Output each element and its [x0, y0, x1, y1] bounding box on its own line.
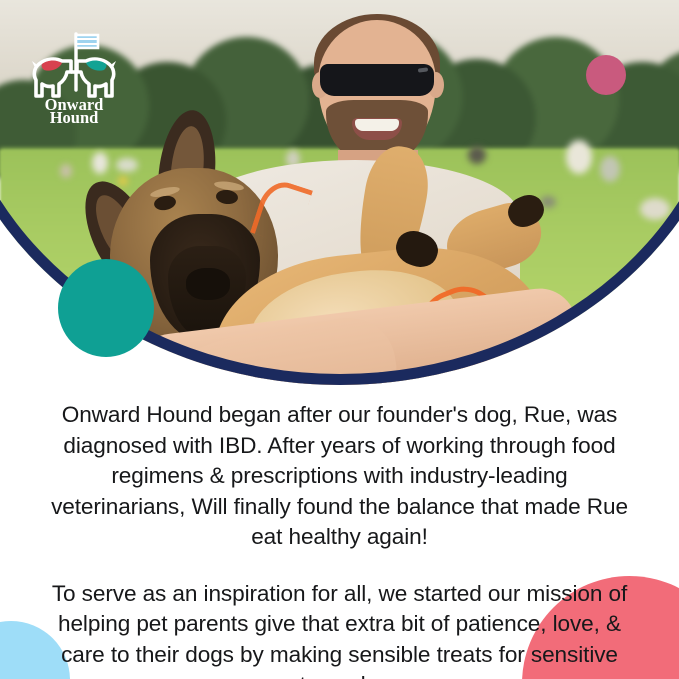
distant-figure [92, 152, 108, 174]
distant-figure [566, 140, 592, 174]
brand-story-card: Onward Hound Onward Hound began after ou… [0, 0, 679, 679]
pink-circle-icon [586, 55, 626, 95]
onward-hound-logo[interactable]: Onward Hound [26, 28, 122, 124]
distant-figure [468, 146, 486, 164]
distant-figure [600, 156, 620, 182]
distant-figure [60, 164, 72, 178]
story-paragraph-2: To serve as an inspiration for all, we s… [50, 579, 629, 679]
german-shepherd-nose [186, 268, 230, 300]
man-teeth [355, 119, 399, 131]
sunglasses-icon [320, 64, 434, 96]
distant-figure [116, 158, 138, 172]
onward-hound-logo-icon: Onward Hound [26, 28, 122, 124]
story-copy: Onward Hound began after our founder's d… [50, 400, 629, 679]
distant-ball [118, 176, 128, 186]
story-paragraph-1: Onward Hound began after our founder's d… [50, 400, 629, 553]
distant-figure [640, 198, 670, 220]
logo-wordmark-line-2: Hound [50, 108, 99, 124]
teal-circle-icon [58, 259, 154, 357]
